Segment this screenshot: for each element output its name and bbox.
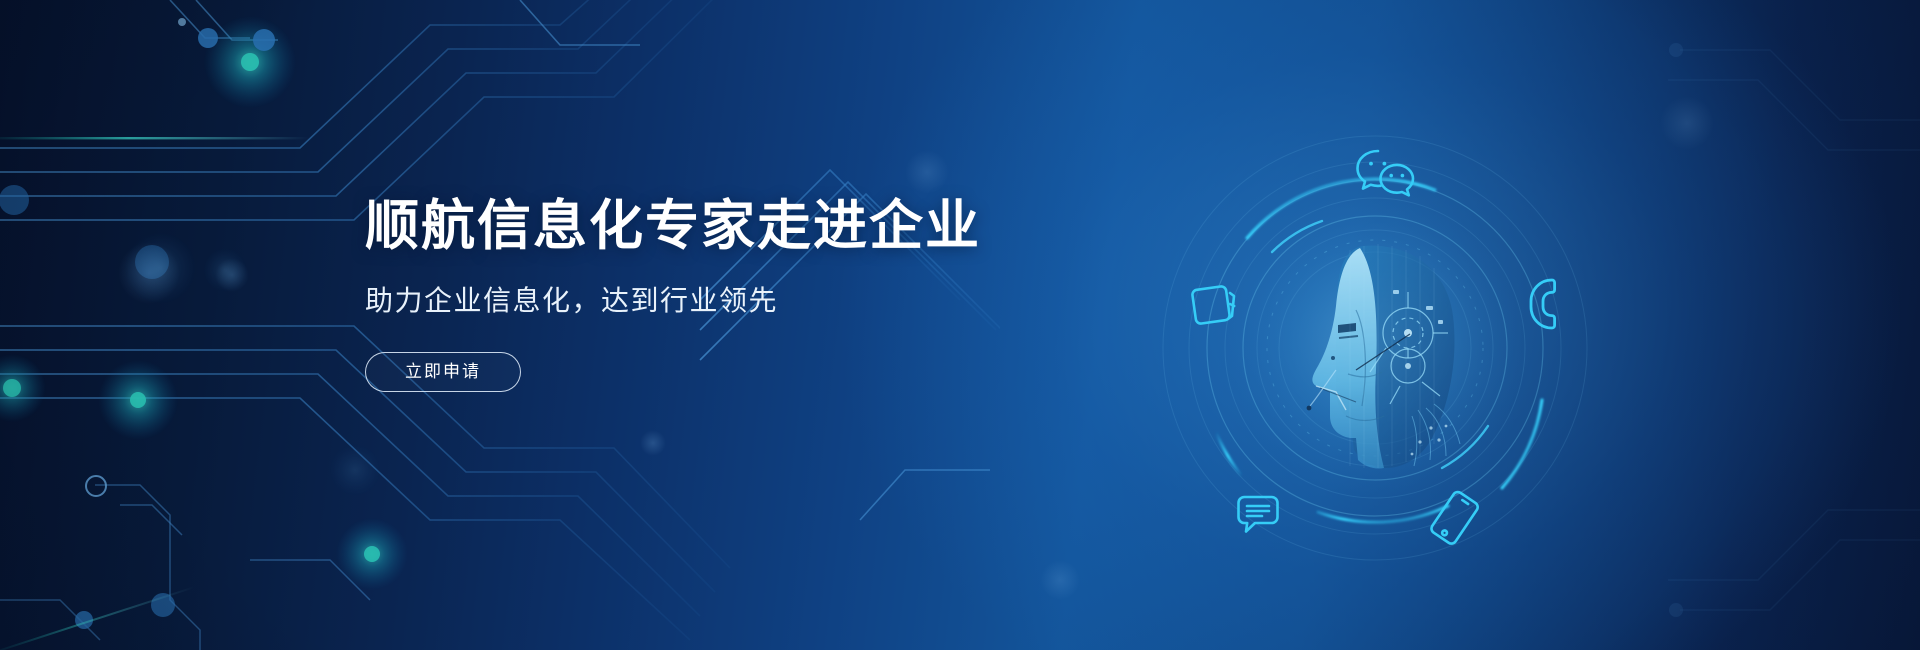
vignette-overlay [0, 0, 1920, 650]
hero-banner: 顺航信息化专家走进企业 助力企业信息化，达到行业领先 立即申请 [0, 0, 1920, 650]
